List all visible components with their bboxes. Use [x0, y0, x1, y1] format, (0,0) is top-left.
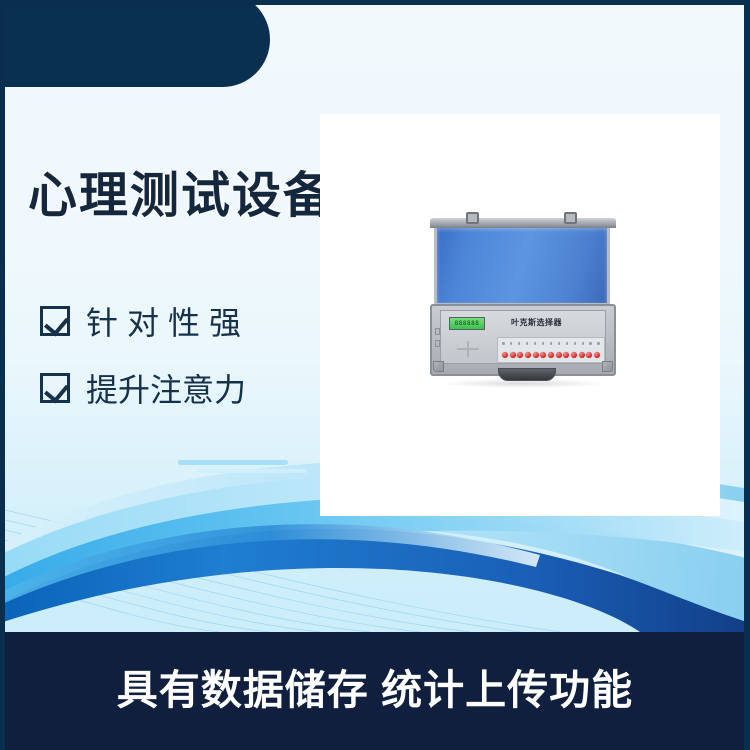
- case-lid: [434, 224, 610, 306]
- led-indicator: [597, 342, 600, 345]
- led-button: [579, 352, 585, 358]
- promotional-poster: 心理测试设备 针对性强 提升注意力 888888: [0, 0, 750, 750]
- feature-item-1: 针对性强: [40, 298, 250, 344]
- feature-label-1: 针对性强: [86, 298, 250, 344]
- led-button: [533, 352, 539, 358]
- led-button: [510, 352, 516, 358]
- wave-highlight-1: [178, 460, 288, 465]
- checkbox-checked-icon: [40, 373, 70, 403]
- case-base: 888888 叶克斯选择器: [430, 304, 616, 376]
- led-indicator: [550, 342, 553, 345]
- keypad-icon: [457, 341, 479, 357]
- case-lid-rim: [430, 218, 616, 228]
- led-indicator-row: [502, 342, 600, 345]
- case-corner-bottom-right: [602, 361, 613, 372]
- product-image-card: 888888 叶克斯选择器: [320, 114, 720, 516]
- led-button: [563, 352, 569, 358]
- feature-list: 针对性强 提升注意力: [40, 298, 250, 432]
- frame-edge-right: [744, 0, 750, 750]
- footer-text: 具有数据储存 统计上传功能: [0, 656, 750, 716]
- led-button: [540, 352, 546, 358]
- case-body: 888888 叶克斯选择器: [428, 208, 618, 378]
- led-indicator: [526, 342, 529, 345]
- led-button: [517, 352, 523, 358]
- led-button: [586, 352, 592, 358]
- led-indicator: [566, 342, 569, 345]
- case-hinge-left-icon: [466, 212, 479, 224]
- led-button: [594, 352, 600, 358]
- panel-title-label: 叶克斯选择器: [511, 317, 562, 328]
- wave-highlight-2: [198, 469, 306, 473]
- control-panel: 888888 叶克斯选择器: [440, 310, 606, 364]
- led-indicator: [502, 342, 505, 345]
- led-array: [497, 337, 605, 363]
- led-indicator: [589, 342, 592, 345]
- led-button: [502, 352, 508, 358]
- led-indicator: [558, 342, 561, 345]
- feature-item-2: 提升注意力: [40, 365, 250, 411]
- led-button-row: [502, 352, 600, 358]
- case-corner-bottom-left: [433, 361, 444, 372]
- led-indicator: [574, 342, 577, 345]
- led-indicator: [518, 342, 521, 345]
- led-indicator: [582, 342, 585, 345]
- footer-band: 具有数据储存 统计上传功能: [0, 632, 750, 750]
- led-button: [556, 352, 562, 358]
- checkbox-checked-icon: [40, 306, 70, 336]
- frame-edge-top: [0, 0, 750, 5]
- led-button: [525, 352, 531, 358]
- led-button: [571, 352, 577, 358]
- frame-edge-left: [0, 0, 5, 750]
- feature-label-2: 提升注意力: [86, 365, 246, 411]
- case-drop-shadow: [442, 379, 604, 388]
- case-hinge-right-icon: [564, 212, 577, 224]
- lcd-display: 888888: [449, 317, 485, 330]
- top-banner-shape: [0, 0, 270, 87]
- led-indicator: [510, 342, 513, 345]
- led-indicator: [534, 342, 537, 345]
- led-button: [548, 352, 554, 358]
- led-indicator: [542, 342, 545, 345]
- page-title: 心理测试设备: [28, 172, 334, 221]
- product-device-case: 888888 叶克斯选择器: [428, 208, 618, 378]
